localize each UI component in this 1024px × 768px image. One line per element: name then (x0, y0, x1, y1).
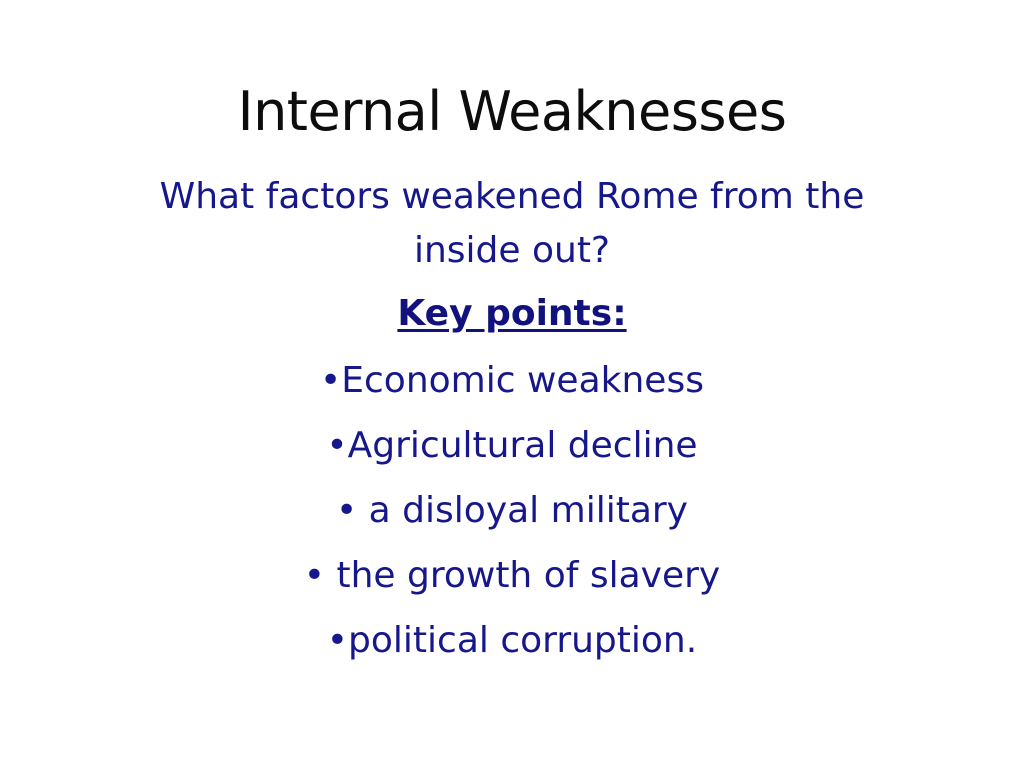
key-points-list: •Economic weakness •Agricultural decline… (112, 348, 912, 673)
presentation-slide: Internal Weaknesses What factors weakene… (0, 0, 1024, 768)
slide-title: Internal Weaknesses (0, 80, 1024, 144)
list-item: • the growth of slavery (112, 543, 912, 608)
key-points-heading: Key points: (112, 286, 912, 342)
list-item: •political corruption. (112, 608, 912, 673)
list-item: • a disloyal military (112, 478, 912, 543)
list-item: •Agricultural decline (112, 413, 912, 478)
key-points-label: Key points: (397, 293, 626, 334)
list-item: •Economic weakness (112, 348, 912, 413)
question-text: What factors weakened Rome from the insi… (112, 170, 912, 278)
slide-body: What factors weakened Rome from the insi… (112, 170, 912, 673)
